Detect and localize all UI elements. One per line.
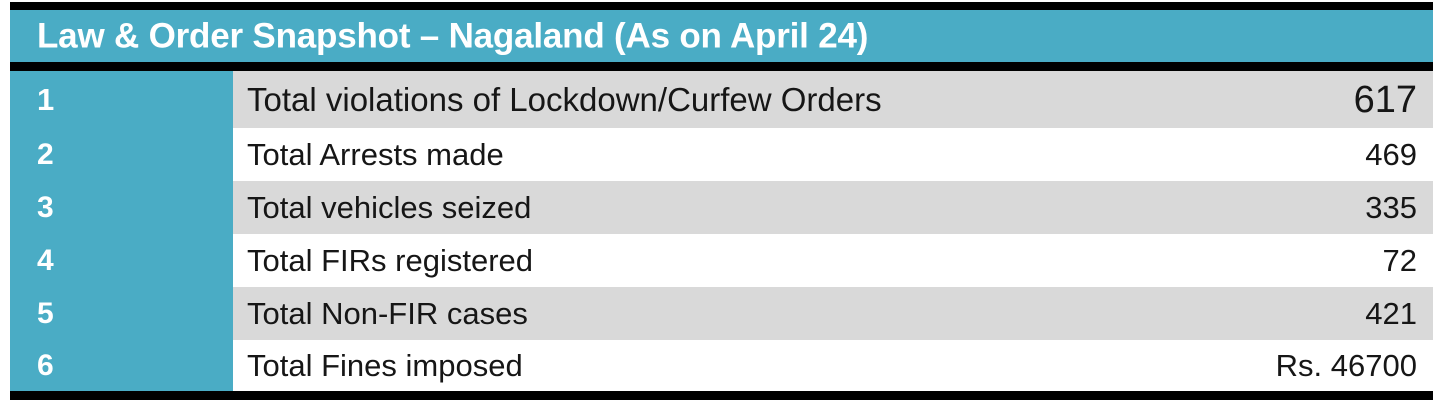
- table-row: 2 Total Arrests made 469: [10, 128, 1433, 181]
- row-serial: 5: [10, 287, 233, 340]
- table-top-rule: [10, 2, 1433, 10]
- row-label: Total Non-FIR cases: [233, 287, 1133, 340]
- law-and-order-snapshot-table: Law & Order Snapshot – Nagaland (As on A…: [10, 0, 1433, 405]
- row-serial: 6: [10, 340, 233, 391]
- row-label: Total violations of Lockdown/Curfew Orde…: [233, 71, 1133, 128]
- table-body: 1 Total violations of Lockdown/Curfew Or…: [10, 71, 1433, 391]
- row-serial: 1: [10, 71, 233, 128]
- table-row: 4 Total FIRs registered 72: [10, 234, 1433, 287]
- row-value: 335: [1133, 181, 1433, 234]
- row-value: 469: [1133, 128, 1433, 181]
- table-title-band: Law & Order Snapshot – Nagaland (As on A…: [10, 10, 1433, 62]
- row-value: 421: [1133, 287, 1433, 340]
- row-value: 72: [1133, 234, 1433, 287]
- table-row: 5 Total Non-FIR cases 421: [10, 287, 1433, 340]
- row-serial: 4: [10, 234, 233, 287]
- row-serial: 3: [10, 181, 233, 234]
- row-label: Total vehicles seized: [233, 181, 1133, 234]
- table-bottom-rule: [10, 391, 1433, 400]
- row-serial: 2: [10, 128, 233, 181]
- row-label: Total FIRs registered: [233, 234, 1133, 287]
- row-value: 617: [1133, 71, 1433, 128]
- row-label: Total Arrests made: [233, 128, 1133, 181]
- row-label: Total Fines imposed: [233, 340, 1133, 391]
- table-header-rule: [10, 62, 1433, 71]
- page-title: Law & Order Snapshot – Nagaland (As on A…: [37, 19, 868, 54]
- table-row: 3 Total vehicles seized 335: [10, 181, 1433, 234]
- table-row: 6 Total Fines imposed Rs. 46700: [10, 340, 1433, 391]
- table-row: 1 Total violations of Lockdown/Curfew Or…: [10, 71, 1433, 128]
- row-value: Rs. 46700: [1133, 340, 1433, 391]
